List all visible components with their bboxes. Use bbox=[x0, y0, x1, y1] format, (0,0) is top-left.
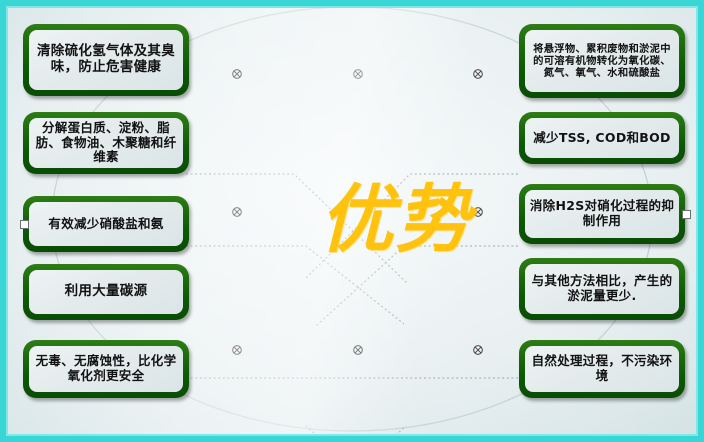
node-left-2[interactable]: 分解蛋白质、淀粉、脂肪、食物油、木聚糖和纤维素 bbox=[23, 112, 189, 174]
node-left-1-label: 清除硫化氢气体及其臭味，防止危害健康 bbox=[32, 44, 180, 76]
node-right-4-label: 与其他方法相比，产生的淤泥量更少. bbox=[528, 274, 676, 304]
node-left-3[interactable]: 有效减少硝酸盐和氨 bbox=[23, 196, 189, 252]
node-right-2[interactable]: 减少TSS, COD和BOD bbox=[519, 112, 685, 164]
selection-handle-right[interactable] bbox=[682, 210, 691, 219]
node-left-4[interactable]: 利用大量碳源 bbox=[23, 264, 189, 320]
node-left-5-label: 无毒、无腐蚀性，比化学氧化剂更安全 bbox=[32, 354, 180, 384]
node-left-3-label: 有效减少硝酸盐和氨 bbox=[32, 217, 180, 232]
node-right-4[interactable]: 与其他方法相比，产生的淤泥量更少. bbox=[519, 258, 685, 320]
node-right-5-label: 自然处理过程，不污染环境 bbox=[528, 354, 676, 384]
node-right-5[interactable]: 自然处理过程，不污染环境 bbox=[519, 340, 685, 398]
diagram-background: 清除硫化氢气体及其臭味，防止危害健康 分解蛋白质、淀粉、脂肪、食物油、木聚糖和纤… bbox=[6, 6, 698, 436]
node-right-3-label: 消除H2S对硝化过程的抑制作用 bbox=[528, 199, 676, 229]
node-right-3[interactable]: 消除H2S对硝化过程的抑制作用 bbox=[519, 184, 685, 244]
node-left-5[interactable]: 无毒、无腐蚀性，比化学氧化剂更安全 bbox=[23, 340, 189, 398]
node-right-1[interactable]: 将悬浮物、累积废物和淤泥中的可溶有机物转化为氧化碳、氮气、氧气、水和硫酸盐 bbox=[519, 24, 685, 98]
node-left-2-label: 分解蛋白质、淀粉、脂肪、食物油、木聚糖和纤维素 bbox=[32, 121, 180, 165]
node-left-1[interactable]: 清除硫化氢气体及其臭味，防止危害健康 bbox=[23, 24, 189, 96]
diagram-canvas: 清除硫化氢气体及其臭味，防止危害健康 分解蛋白质、淀粉、脂肪、食物油、木聚糖和纤… bbox=[0, 0, 704, 442]
node-right-2-label: 减少TSS, COD和BOD bbox=[528, 131, 676, 146]
selection-handle-left[interactable] bbox=[20, 220, 29, 229]
node-left-4-label: 利用大量碳源 bbox=[32, 284, 180, 300]
node-right-1-label: 将悬浮物、累积废物和淤泥中的可溶有机物转化为氧化碳、氮气、氧气、水和硫酸盐 bbox=[528, 43, 676, 79]
